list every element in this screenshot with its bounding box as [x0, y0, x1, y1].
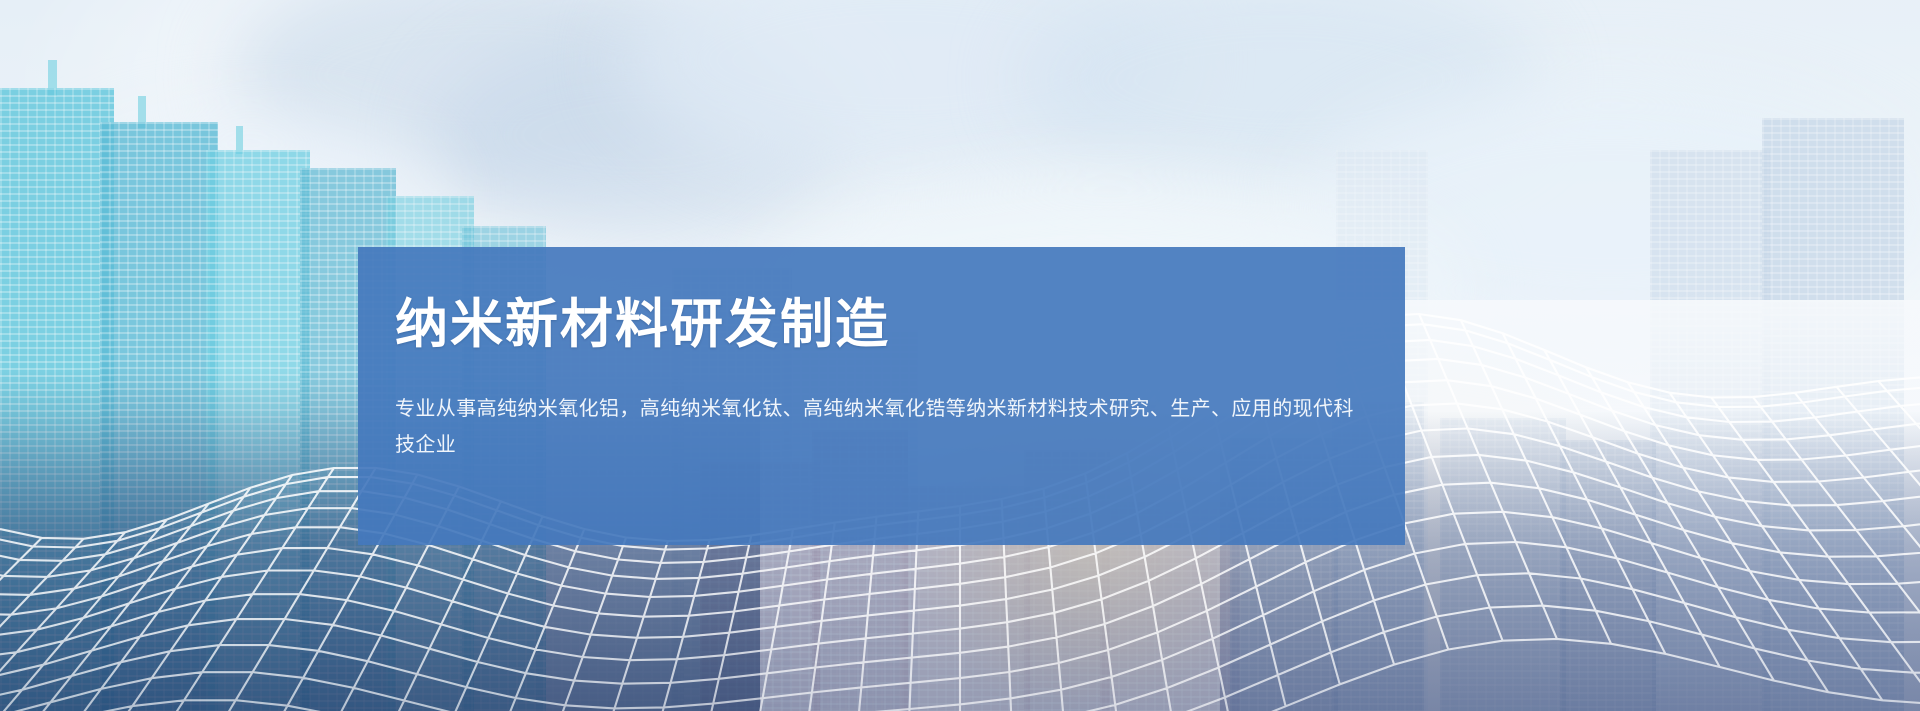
page-title: 纳米新材料研发制造: [395, 295, 1365, 356]
hero-text-content: 纳米新材料研发制造 专业从事高纯纳米氧化铝，高纯纳米氧化钛、高纯纳米氧化锆等纳米…: [358, 247, 1405, 545]
hero-banner: 纳米新材料研发制造 专业从事高纯纳米氧化铝，高纯纳米氧化钛、高纯纳米氧化锆等纳米…: [0, 0, 1920, 711]
hero-subtitle: 专业从事高纯纳米氧化铝，高纯纳米氧化钛、高纯纳米氧化锆等纳米新材料技术研究、生产…: [395, 390, 1365, 463]
